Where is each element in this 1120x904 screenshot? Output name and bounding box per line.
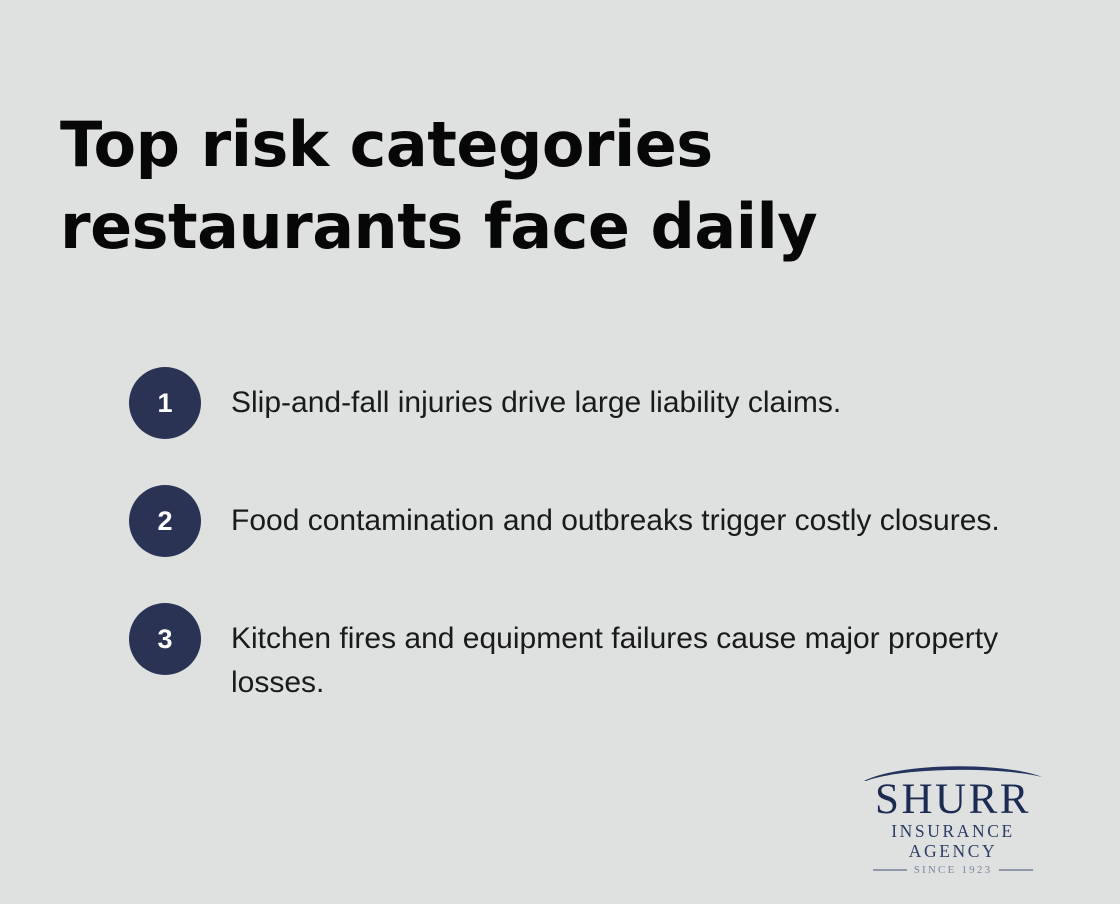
logo-tagline: INSURANCE AGENCY [862, 821, 1044, 861]
list-item-label: Kitchen fires and equipment failures cau… [231, 603, 1001, 705]
list-item: 2 Food contamination and outbreaks trigg… [129, 485, 1029, 557]
slide-canvas: Top risk categories restaurants face dai… [0, 0, 1120, 904]
list-number-badge: 3 [129, 603, 201, 675]
logo-rule-left [873, 869, 907, 871]
logo-since-label: SINCE 1923 [914, 864, 993, 876]
list-number-badge: 2 [129, 485, 201, 557]
list-item: 3 Kitchen fires and equipment failures c… [129, 603, 1029, 705]
logo-wordmark: SHURR [862, 780, 1044, 820]
logo-rule-right [999, 869, 1033, 871]
list-item-label: Food contamination and outbreaks trigger… [231, 485, 1000, 543]
list-item-label: Slip-and-fall injuries drive large liabi… [231, 367, 841, 425]
logo-since-row: SINCE 1923 [862, 864, 1044, 876]
risk-list: 1 Slip-and-fall injuries drive large lia… [129, 367, 1029, 705]
page-title: Top risk categories restaurants face dai… [60, 104, 1070, 268]
list-item: 1 Slip-and-fall injuries drive large lia… [129, 367, 1029, 439]
list-number-badge: 1 [129, 367, 201, 439]
brand-logo: SHURR INSURANCE AGENCY SINCE 1923 [862, 762, 1044, 844]
